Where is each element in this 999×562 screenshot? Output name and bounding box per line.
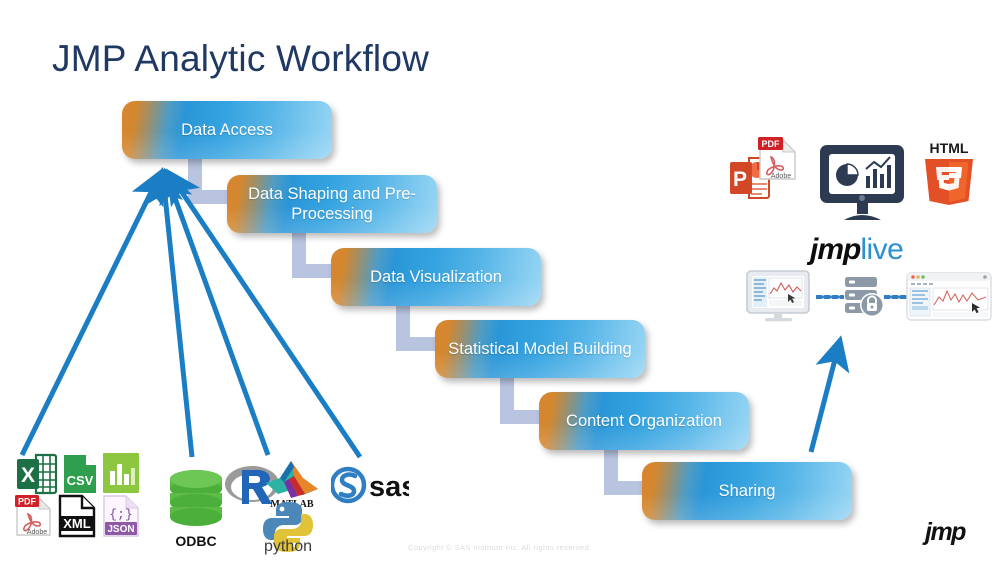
svg-text:X: X — [21, 464, 35, 487]
step-card-sharing[interactable]: Sharing — [642, 462, 852, 520]
svg-text:JSON: JSON — [107, 524, 134, 535]
step-card-statistical-model[interactable]: Statistical Model Building — [435, 320, 645, 378]
browser-report-icon[interactable] — [906, 272, 992, 322]
step-label: Statistical Model Building — [438, 339, 641, 359]
odbc-database-icon[interactable] — [166, 468, 226, 530]
step-card-data-shaping[interactable]: Data Shaping and Pre-Processing — [227, 175, 437, 233]
step-label: Data Visualization — [360, 267, 512, 287]
jmp-logo: jmp — [925, 518, 965, 547]
svg-text:PDF: PDF — [762, 139, 781, 149]
sas-logo-icon[interactable]: sas — [331, 466, 409, 504]
dashboard-monitor-icon[interactable] — [818, 143, 906, 221]
jmp-live-logo: jmplive — [810, 233, 903, 267]
sas-wordmark: sas — [369, 471, 409, 503]
slide-canvas: JMP Analytic Workflow Data Access Data S… — [0, 0, 999, 562]
page-title: JMP Analytic Workflow — [52, 38, 429, 80]
svg-text:CSV: CSV — [67, 473, 94, 488]
svg-text:Adobe: Adobe — [27, 529, 47, 536]
svg-text:XML: XML — [63, 516, 91, 531]
python-label: python — [250, 538, 326, 556]
csv-icon[interactable]: CSV — [62, 453, 98, 495]
jmp-wordmark: jmp — [810, 233, 860, 266]
step-label: Data Access — [171, 120, 283, 140]
step-label: Sharing — [709, 481, 786, 501]
step-label: Data Shaping and Pre-Processing — [227, 184, 437, 224]
step-card-content-organization[interactable]: Content Organization — [539, 392, 749, 450]
xml-icon[interactable]: XML — [57, 494, 97, 538]
excel-icon[interactable]: X — [16, 453, 58, 495]
step-card-data-access[interactable]: Data Access — [122, 101, 332, 159]
html5-icon[interactable]: HTML — [921, 139, 977, 205]
pdf-output-icon[interactable]: PDF Adobe — [757, 136, 799, 182]
live-wordmark: live — [860, 233, 903, 266]
step-card-data-visualization[interactable]: Data Visualization — [331, 248, 541, 306]
step-label: Content Organization — [556, 411, 732, 431]
odbc-label: ODBC — [166, 533, 226, 549]
svg-text:HTML: HTML — [930, 140, 969, 156]
json-icon[interactable]: {;} JSON — [102, 494, 140, 538]
desktop-client-icon[interactable] — [743, 270, 815, 322]
chart-file-icon[interactable] — [103, 453, 139, 493]
svg-text:PDF: PDF — [18, 497, 37, 507]
arrow-sharing-to-outputs — [811, 344, 839, 452]
pipeline-dotted-line-left — [816, 294, 844, 300]
arrow-files-to-data-access — [22, 176, 159, 455]
svg-text:{;}: {;} — [109, 507, 132, 522]
svg-text:P: P — [733, 168, 747, 191]
secure-server-icon[interactable] — [841, 274, 885, 318]
svg-text:Adobe: Adobe — [771, 173, 791, 180]
pdf-icon[interactable]: PDF Adobe — [14, 494, 54, 538]
copyright-text: Copyright © SAS Institute Inc. All right… — [408, 543, 592, 552]
arrow-odbc-to-data-access — [163, 176, 192, 457]
